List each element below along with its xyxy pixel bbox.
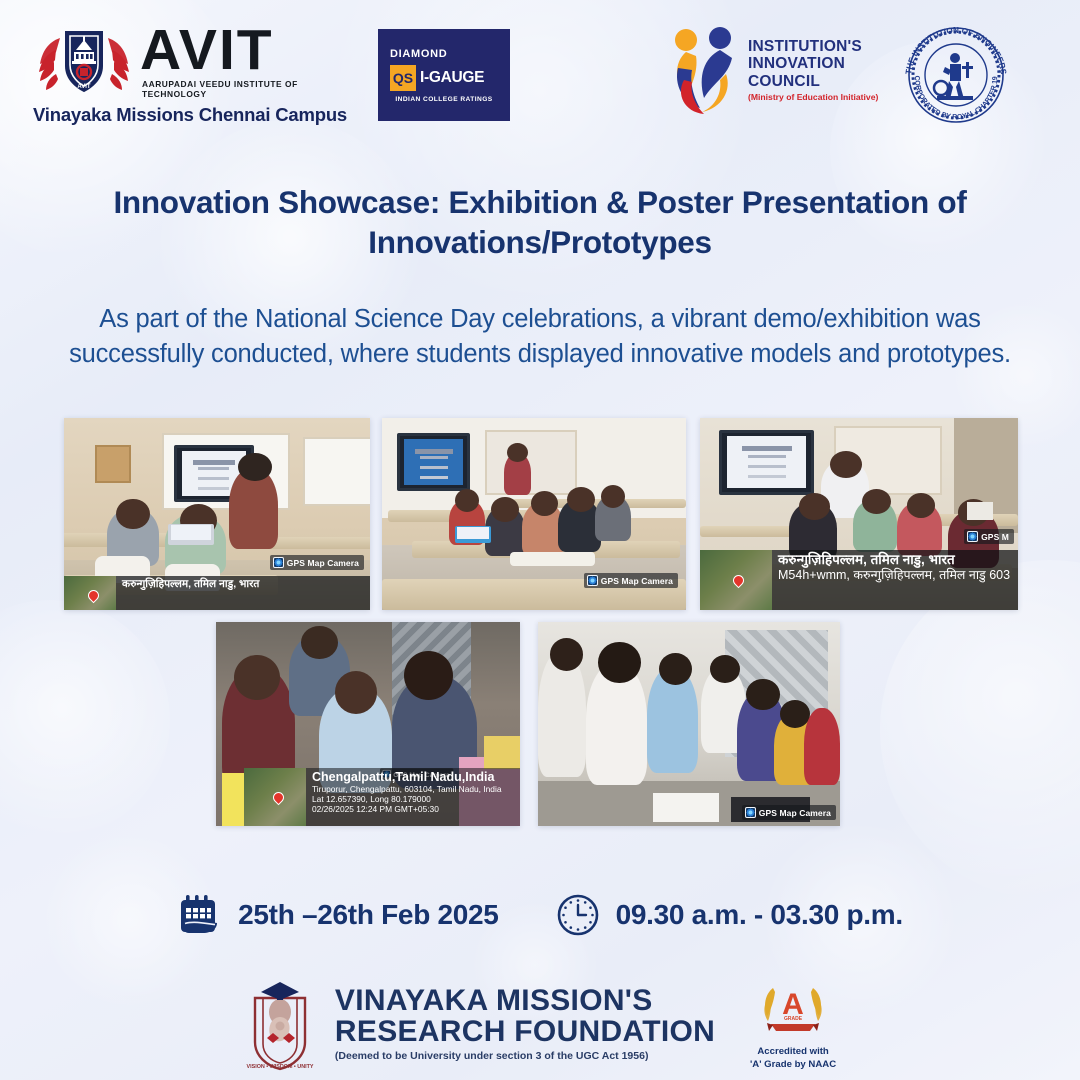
- iic-line-3: COUNCIL: [748, 73, 878, 90]
- qs-igauge-badge: DIAMOND QS I-GAUGE INDIAN COLLEGE RATING…: [378, 29, 510, 121]
- gps-watermark-chip: GPS Map Camera: [742, 805, 836, 820]
- clock-icon: [555, 892, 601, 938]
- gps-watermark-chip: GPS Map Camera: [270, 555, 364, 570]
- iic-ministry-label: (Ministry of Education Initiative): [748, 92, 878, 102]
- avit-campus-label: Vinayaka Missions Chennai Campus: [30, 104, 350, 126]
- naac-badge: A GRADE Accredited with 'A' Grade by NAA…: [745, 978, 841, 1071]
- bokeh-circle: [0, 600, 170, 840]
- calendar-icon: [177, 892, 223, 938]
- gps-location-line-2: M54h+wmm, करुन्गुज़िहिपल्लम, तमिल नाडु 6…: [778, 568, 1012, 583]
- poster-description: As part of the National Science Day cele…: [60, 302, 1020, 372]
- gps-info-bar: Chengalpattu,Tamil Nadu,India Tiruporur,…: [244, 768, 520, 826]
- event-time-item: 09.30 a.m. - 03.30 p.m.: [555, 892, 903, 938]
- iic-logo: INSTITUTION'S INNOVATION COUNCIL (Minist…: [668, 24, 883, 124]
- svg-text:AVIT: AVIT: [77, 84, 91, 90]
- qs-mark-icon: QS: [390, 65, 416, 91]
- qs-rating-label: DIAMOND: [390, 48, 447, 60]
- poster-title: Innovation Showcase: Exhibition & Poster…: [70, 182, 1010, 263]
- avit-expansion: AARUPADAI VEEDU INSTITUTE OF TECHNOLOGY: [142, 79, 350, 99]
- gps-map-camera-icon: [745, 807, 756, 818]
- gps-info-bar: करुन्गुज़िहिपल्लम, तमिल नाडु, भारत: [64, 576, 370, 610]
- naac-caption-line-2: 'A' Grade by NAAC: [745, 1059, 841, 1071]
- event-photo-1: GPS Map Camera करुन्गुज़िहिपल्लम, तमिल न…: [64, 418, 370, 610]
- gps-watermark-chip: GPS Map Camera: [584, 573, 678, 588]
- qs-tagline: INDIAN COLLEGE RATINGS: [395, 96, 492, 103]
- event-date-label: 25th –26th Feb 2025: [238, 899, 498, 931]
- gps-watermark-label: GPS Map Camera: [601, 576, 673, 586]
- iic-line-1: INSTITUTION'S: [748, 38, 878, 55]
- gps-map-camera-icon: [273, 557, 284, 568]
- gps-location-title: Chengalpattu,Tamil Nadu,India: [312, 770, 514, 785]
- qs-name-label: I-GAUGE: [420, 69, 484, 87]
- gps-map-thumbnail: [244, 768, 306, 826]
- gps-watermark-label: GPS Map Camera: [287, 558, 359, 568]
- vmrf-logo: VISION • WISDOM • UNITY VINAYAKA MISSION…: [239, 976, 715, 1072]
- header-logo-bar: AVIT AVIT AARUPADAI VEEDU INSTITUTE OF T…: [0, 0, 1080, 145]
- vmrf-deemed-note: (Deemed to be University under section 3…: [335, 1051, 715, 1062]
- avit-wordmark: AVIT: [140, 23, 350, 77]
- gps-location-line-1: करुन्गुज़िहिपल्लम, तमिल नाडु, भारत: [122, 578, 364, 590]
- iei-seal: THE INSTITUTION OF ENGINEERS INCORPORATE…: [893, 22, 1019, 126]
- bokeh-circle: [880, 560, 1080, 900]
- vmrf-line-1: VINAYAKA MISSION'S: [335, 986, 715, 1017]
- event-photo-3: GPS M करुन्गुज़िहिपल्लम, तमिल नाडु, भारत…: [700, 418, 1018, 610]
- naac-laurel-badge-icon: A GRADE: [757, 978, 829, 1040]
- event-photo-2: GPS Map Camera: [382, 418, 686, 610]
- vmrf-crest-icon: VISION • WISDOM • UNITY: [239, 976, 321, 1072]
- naac-grade-sub: GRADE: [784, 1016, 803, 1022]
- event-time-label: 09.30 a.m. - 03.30 p.m.: [616, 899, 903, 931]
- gps-watermark-label: GPS Map Camera: [759, 808, 831, 818]
- gps-watermark-label: GPS M: [981, 532, 1009, 542]
- gps-map-thumbnail: [700, 550, 772, 610]
- event-photo-4: GPS Map Camera Chengalpattu,Tamil Nadu,I…: [216, 622, 520, 826]
- institution-of-engineers-seal-icon: THE INSTITUTION OF ENGINEERS INCORPORATE…: [893, 22, 1019, 126]
- event-date-item: 25th –26th Feb 2025: [177, 892, 498, 938]
- vmrf-line-2: RESEARCH FOUNDATION: [335, 1017, 715, 1048]
- gps-map-camera-icon: [587, 575, 598, 586]
- gps-timestamp: 02/26/2025 12:24 PM GMT+05:30: [312, 805, 514, 815]
- gps-map-camera-icon: [967, 531, 978, 542]
- iic-swoosh-logo-icon: [668, 24, 746, 120]
- svg-text:VISION • WISDOM • UNITY: VISION • WISDOM • UNITY: [246, 1064, 313, 1070]
- avit-shield-icon: AVIT: [30, 22, 138, 100]
- event-photo-5: GPS Map Camera: [538, 622, 840, 826]
- gps-map-thumbnail: [64, 576, 116, 610]
- poster-canvas: AVIT AVIT AARUPADAI VEEDU INSTITUTE OF T…: [0, 0, 1080, 1080]
- footer-logo-bar: VISION • WISDOM • UNITY VINAYAKA MISSION…: [0, 968, 1080, 1080]
- gps-watermark-chip: GPS M: [964, 529, 1014, 544]
- gps-location-line-1: करुन्गुज़िहिपल्लम, तमिल नाडु, भारत: [778, 552, 1012, 568]
- gps-info-bar: करुन्गुज़िहिपल्लम, तमिल नाडु, भारत M54h+…: [700, 550, 1018, 610]
- naac-caption-line-1: Accredited with: [745, 1046, 841, 1058]
- avit-logo: AVIT AVIT AARUPADAI VEEDU INSTITUTE OF T…: [30, 22, 350, 127]
- iic-line-2: INNOVATION: [748, 55, 878, 72]
- event-datetime-row: 25th –26th Feb 2025 09.30 a.m. - 03.30 p…: [0, 880, 1080, 950]
